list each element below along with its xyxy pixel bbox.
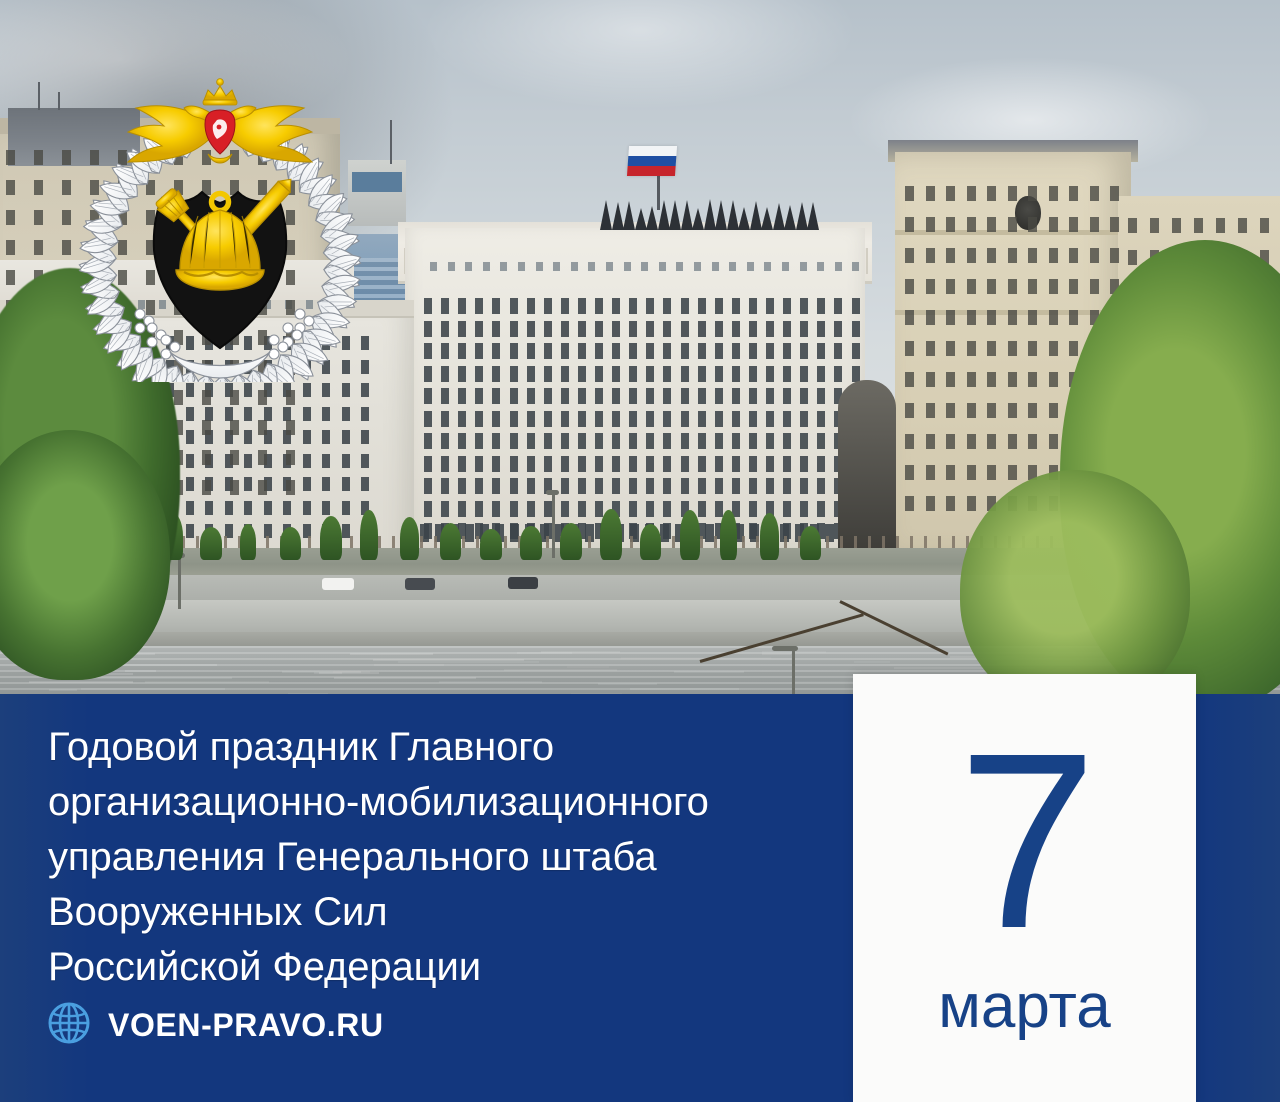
cypress-tree	[440, 523, 461, 560]
window	[967, 403, 976, 418]
window	[492, 298, 500, 314]
window	[715, 411, 723, 427]
window	[34, 180, 43, 195]
window	[578, 321, 586, 337]
window	[629, 343, 637, 359]
window	[749, 433, 757, 449]
window	[424, 298, 432, 314]
window	[926, 465, 935, 480]
window	[588, 262, 595, 271]
window	[518, 262, 525, 271]
cypress-tree	[320, 516, 342, 560]
window	[244, 454, 252, 468]
window	[527, 343, 535, 359]
window	[663, 388, 671, 404]
cypress-tree	[280, 527, 301, 560]
window	[264, 501, 272, 515]
wreath-berry	[278, 342, 288, 352]
window	[694, 262, 701, 271]
window	[852, 343, 860, 359]
window	[817, 501, 825, 517]
window	[926, 496, 935, 511]
window	[783, 478, 791, 494]
window	[258, 480, 267, 495]
window	[1069, 248, 1078, 263]
window	[663, 411, 671, 427]
window	[303, 454, 311, 468]
window	[230, 390, 239, 405]
window	[510, 298, 518, 314]
window	[458, 433, 466, 449]
window	[492, 343, 500, 359]
window	[646, 343, 654, 359]
window	[595, 388, 603, 404]
window	[1049, 372, 1058, 387]
window	[764, 262, 771, 271]
window	[681, 388, 689, 404]
window	[342, 430, 350, 444]
window	[500, 262, 507, 271]
window	[926, 434, 935, 449]
window	[946, 341, 955, 356]
window	[817, 262, 824, 271]
window	[561, 456, 569, 472]
window	[536, 262, 543, 271]
window	[1008, 434, 1017, 449]
window	[510, 456, 518, 472]
water-ripple	[282, 671, 361, 673]
window	[1069, 341, 1078, 356]
window	[698, 366, 706, 382]
water-ripple	[705, 658, 790, 660]
window	[424, 433, 432, 449]
window	[527, 321, 535, 337]
window	[987, 434, 996, 449]
window	[510, 411, 518, 427]
window	[834, 321, 842, 337]
window	[967, 310, 976, 325]
window	[729, 262, 736, 271]
window	[967, 434, 976, 449]
window	[612, 411, 620, 427]
window	[783, 433, 791, 449]
roof-spike	[600, 200, 612, 230]
window	[578, 388, 586, 404]
window	[800, 298, 808, 314]
window	[34, 240, 43, 255]
window	[1008, 186, 1017, 201]
window	[578, 478, 586, 494]
window	[186, 407, 194, 421]
water-ripple	[504, 669, 618, 671]
window	[458, 456, 466, 472]
window	[492, 478, 500, 494]
window	[749, 456, 757, 472]
window	[629, 388, 637, 404]
window	[544, 501, 552, 517]
window	[783, 366, 791, 382]
window	[510, 388, 518, 404]
window	[749, 411, 757, 427]
window	[322, 454, 330, 468]
window	[553, 262, 560, 271]
window	[681, 411, 689, 427]
window	[595, 433, 603, 449]
window	[1128, 218, 1137, 233]
cypress-tree	[640, 524, 661, 560]
water-ripple	[49, 689, 78, 691]
window	[749, 321, 757, 337]
window	[561, 411, 569, 427]
window	[595, 343, 603, 359]
window	[715, 501, 723, 517]
headline-line-3: управления Генерального штаба	[48, 830, 838, 885]
cypress-tree	[680, 510, 700, 560]
window	[698, 478, 706, 494]
window	[1049, 248, 1058, 263]
cypress-tree	[800, 526, 821, 560]
window	[186, 501, 194, 515]
window	[544, 388, 552, 404]
window	[458, 388, 466, 404]
window	[715, 321, 723, 337]
window	[458, 321, 466, 337]
window	[987, 186, 996, 201]
window	[1128, 250, 1137, 265]
window	[202, 450, 211, 465]
window	[715, 298, 723, 314]
window	[578, 433, 586, 449]
wreath-berry	[292, 330, 302, 340]
water-ripple	[598, 683, 657, 685]
window	[342, 383, 350, 397]
window	[800, 343, 808, 359]
window	[766, 321, 774, 337]
window	[510, 343, 518, 359]
window	[441, 478, 449, 494]
window	[800, 366, 808, 382]
window	[967, 279, 976, 294]
cypress-tree	[600, 509, 622, 560]
car	[322, 578, 354, 590]
window	[458, 501, 466, 517]
window	[1090, 248, 1099, 263]
window	[766, 478, 774, 494]
window	[817, 366, 825, 382]
window	[629, 433, 637, 449]
window	[783, 388, 791, 404]
window	[441, 343, 449, 359]
window	[926, 217, 935, 232]
entrance-arch	[838, 380, 896, 560]
russian-flag-icon	[627, 146, 677, 176]
window	[905, 465, 914, 480]
window	[1008, 279, 1017, 294]
window	[681, 321, 689, 337]
window	[492, 433, 500, 449]
site-url-label: VOEN-PRAVO.RU	[108, 1007, 384, 1044]
window	[749, 478, 757, 494]
window	[663, 478, 671, 494]
window	[641, 262, 648, 271]
window	[646, 478, 654, 494]
roof-spike	[807, 202, 819, 230]
window	[230, 480, 239, 495]
window	[544, 366, 552, 382]
window	[303, 477, 311, 491]
window	[1238, 218, 1247, 233]
window	[62, 240, 71, 255]
wreath-berry	[295, 309, 305, 319]
wreath-berry	[147, 337, 157, 347]
window	[465, 262, 472, 271]
window	[967, 186, 976, 201]
window	[475, 321, 483, 337]
window	[987, 279, 996, 294]
window	[202, 390, 211, 405]
window	[905, 310, 914, 325]
window	[510, 321, 518, 337]
water-ripple	[374, 664, 444, 666]
window	[732, 321, 740, 337]
cypress-tree	[720, 510, 737, 560]
window	[817, 343, 825, 359]
window	[441, 298, 449, 314]
window	[800, 411, 808, 427]
window	[905, 372, 914, 387]
window	[544, 456, 552, 472]
window	[646, 456, 654, 472]
window	[817, 298, 825, 314]
water-ripple	[630, 688, 739, 690]
window	[424, 478, 432, 494]
cypress-tree	[400, 517, 419, 560]
roof-spike	[612, 202, 624, 230]
window	[766, 456, 774, 472]
window	[202, 420, 211, 435]
window	[1069, 279, 1078, 294]
window	[441, 501, 449, 517]
window	[852, 366, 860, 382]
roof-spike	[692, 208, 704, 230]
window	[926, 403, 935, 418]
window	[681, 298, 689, 314]
window	[578, 411, 586, 427]
window	[663, 343, 671, 359]
window	[62, 150, 71, 165]
window	[527, 388, 535, 404]
roof-spike	[704, 199, 716, 230]
window	[612, 343, 620, 359]
wreath-berry	[161, 349, 171, 359]
window	[6, 180, 15, 195]
window	[732, 298, 740, 314]
window	[1028, 341, 1037, 356]
window	[571, 262, 578, 271]
window	[1028, 186, 1037, 201]
window	[946, 496, 955, 511]
window	[967, 372, 976, 387]
window	[1008, 248, 1017, 263]
window	[1049, 186, 1058, 201]
water-ripple	[145, 681, 269, 683]
window	[322, 407, 330, 421]
window	[527, 433, 535, 449]
window	[926, 186, 935, 201]
window	[483, 262, 490, 271]
window	[987, 341, 996, 356]
window	[852, 262, 859, 271]
window	[441, 456, 449, 472]
window	[1172, 218, 1181, 233]
window	[205, 501, 213, 515]
window	[492, 456, 500, 472]
window	[747, 262, 754, 271]
roof-spike	[784, 205, 796, 230]
window	[1110, 186, 1119, 201]
window	[946, 403, 955, 418]
window	[629, 366, 637, 382]
window	[458, 343, 466, 359]
window	[946, 279, 955, 294]
window	[458, 366, 466, 382]
cypress-tree	[360, 510, 378, 560]
window	[663, 321, 671, 337]
window	[946, 465, 955, 480]
window	[448, 262, 455, 271]
window	[905, 279, 914, 294]
window	[475, 478, 483, 494]
window	[646, 388, 654, 404]
street-lamp	[178, 555, 181, 609]
window	[322, 430, 330, 444]
cypress-tree	[560, 523, 582, 560]
window	[834, 298, 842, 314]
date-month: марта	[938, 976, 1110, 1038]
window	[1008, 372, 1017, 387]
window	[1090, 217, 1099, 232]
window	[1090, 186, 1099, 201]
window	[817, 456, 825, 472]
window	[1216, 218, 1225, 233]
window	[715, 478, 723, 494]
window	[424, 321, 432, 337]
imperial-crown-icon	[203, 79, 237, 105]
window	[732, 456, 740, 472]
wreath-berry	[304, 316, 314, 326]
roof-spike	[761, 207, 773, 230]
window	[441, 388, 449, 404]
window	[424, 501, 432, 517]
window	[646, 411, 654, 427]
window	[646, 298, 654, 314]
window	[681, 478, 689, 494]
date-card: 7 марта	[853, 674, 1196, 1102]
window	[946, 248, 955, 263]
window	[698, 433, 706, 449]
window	[186, 383, 194, 397]
roof-antenna-icon	[38, 82, 40, 110]
window	[926, 248, 935, 263]
window	[283, 501, 291, 515]
window	[264, 407, 272, 421]
window	[361, 430, 369, 444]
window	[342, 454, 350, 468]
window	[732, 411, 740, 427]
window	[510, 433, 518, 449]
window	[817, 433, 825, 449]
window	[303, 383, 311, 397]
window	[766, 433, 774, 449]
window	[987, 465, 996, 480]
window	[1008, 341, 1017, 356]
window	[544, 433, 552, 449]
roof-spike	[623, 201, 635, 230]
window	[732, 366, 740, 382]
window	[492, 501, 500, 517]
window	[1049, 434, 1058, 449]
window	[578, 501, 586, 517]
cypress-tree	[760, 513, 779, 560]
window	[578, 343, 586, 359]
window	[303, 407, 311, 421]
window	[527, 411, 535, 427]
window	[595, 501, 603, 517]
wreath-berry	[269, 335, 279, 345]
window	[244, 407, 252, 421]
car	[508, 577, 538, 589]
window	[1260, 218, 1269, 233]
window	[987, 372, 996, 387]
water-ripple	[350, 653, 433, 655]
window	[544, 298, 552, 314]
street-lamp-head	[546, 490, 559, 495]
roof-spike	[669, 200, 681, 230]
window	[527, 456, 535, 472]
car	[405, 578, 435, 590]
window	[342, 501, 350, 515]
window	[595, 298, 603, 314]
window	[987, 217, 996, 232]
window	[475, 388, 483, 404]
window	[783, 321, 791, 337]
window	[834, 343, 842, 359]
window	[629, 411, 637, 427]
window	[62, 180, 71, 195]
roof-spike	[635, 208, 647, 230]
window	[1028, 217, 1037, 232]
window	[987, 403, 996, 418]
window	[629, 501, 637, 517]
window	[1194, 218, 1203, 233]
window	[578, 298, 586, 314]
window	[492, 321, 500, 337]
window	[492, 411, 500, 427]
site-link[interactable]: VOEN-PRAVO.RU	[48, 1002, 384, 1049]
window	[852, 298, 860, 314]
window	[749, 298, 757, 314]
cypress-tree	[240, 524, 256, 560]
window	[698, 343, 706, 359]
window	[1008, 403, 1017, 418]
street-lamp-head	[772, 646, 798, 651]
window	[1008, 465, 1017, 480]
window	[1049, 310, 1058, 325]
wreath-berry	[161, 335, 171, 345]
window	[430, 262, 437, 271]
water-ripple	[439, 681, 542, 683]
window	[6, 270, 15, 285]
